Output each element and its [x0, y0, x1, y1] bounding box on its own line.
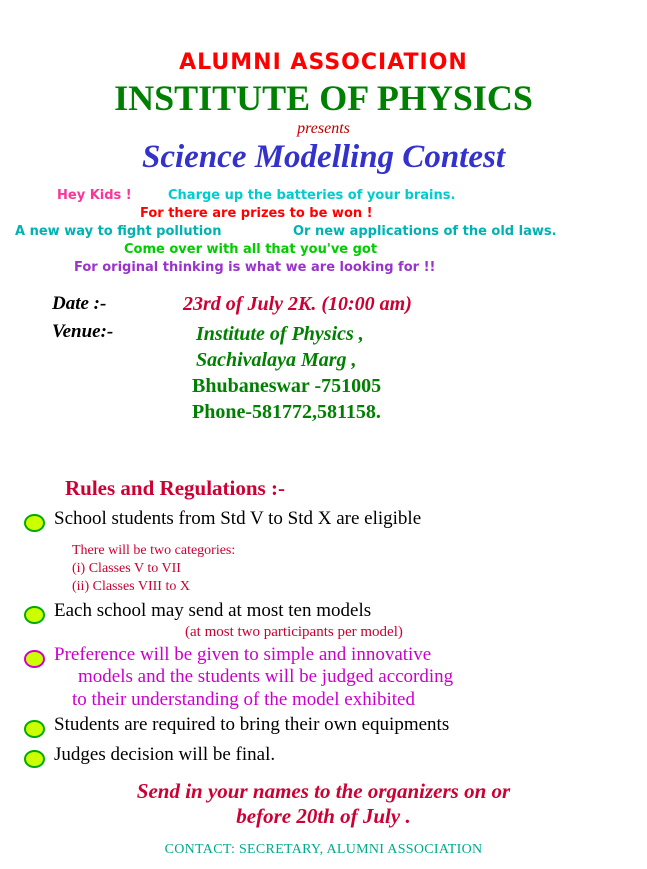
rule-item-5: Judges decision will be final. [24, 744, 624, 768]
rule-text-1: School students from Std V to Std X are … [54, 508, 421, 530]
rule-3-line-3: to their understanding of the model exhi… [72, 689, 415, 711]
slogan-prizes: For there are prizes to be won ! [140, 205, 373, 223]
bullet-icon [24, 750, 45, 768]
venue-line-3: Bhubaneswar -751005 [192, 375, 381, 398]
poster-page: ALUMNI ASSOCIATION INSTITUTE OF PHYSICS … [0, 52, 647, 869]
bullet-icon [24, 720, 45, 738]
category-2: (ii) Classes VIII to X [72, 578, 235, 596]
category-1: (i) Classes V to VII [72, 560, 235, 578]
slogan-row-3: A new way to fight pollution Or new appl… [0, 223, 647, 241]
venue-line-1: Institute of Physics , [196, 323, 364, 346]
slogan-come-over: Come over with all that you've got [124, 241, 377, 259]
slogan-row-5: For original thinking is what we are loo… [0, 259, 647, 277]
slogan-charge-up: Charge up the batteries of your brains. [168, 187, 455, 205]
contest-title: Science Modelling Contest [0, 140, 647, 175]
presents-label: presents [0, 121, 647, 137]
bullet-icon [24, 650, 45, 668]
rules-heading: Rules and Regulations :- [65, 476, 285, 501]
slogan-new-way: A new way to fight pollution [15, 223, 221, 241]
event-details: Date :- Venue:- 23rd of July 2K. (10:00 … [0, 293, 647, 433]
rule-item-2: Each school may send at most ten models [24, 600, 624, 624]
rule-text-4: Students are required to bring their own… [54, 714, 449, 736]
rule-item-3: Preference will be given to simple and i… [24, 644, 624, 711]
send-names-line-2: before 20th of July . [0, 803, 647, 829]
send-names-line-1: Send in your names to the organizers on … [0, 778, 647, 804]
slogan-row-1: Hey Kids ! Charge up the batteries of yo… [0, 187, 647, 205]
slogan-new-applications: Or new applications of the old laws. [293, 223, 557, 241]
slogan-row-4: Come over with all that you've got [0, 241, 647, 259]
rule-item-1: School students from Std V to Std X are … [24, 508, 624, 532]
rule-text-2: Each school may send at most ten models [54, 600, 371, 622]
rule-text-5: Judges decision will be final. [54, 744, 275, 766]
slogan-row-2: For there are prizes to be won ! [0, 205, 647, 223]
bullet-icon [24, 514, 45, 532]
venue-label: Venue:- [52, 321, 113, 343]
venue-phone: Phone-581772,581158. [192, 401, 381, 424]
slogan-hey-kids: Hey Kids ! [57, 187, 132, 205]
alumni-association-heading: ALUMNI ASSOCIATION [0, 52, 647, 74]
bullet-icon [24, 606, 45, 624]
venue-line-2: Sachivalaya Marg , [196, 349, 357, 372]
date-label: Date :- [52, 293, 106, 315]
contact-line: CONTACT: SECRETARY, ALUMNI ASSOCIATION [0, 842, 647, 858]
rule-2-participants-note: (at most two participants per model) [185, 624, 403, 641]
rule-3-line-1: Preference will be given to simple and i… [54, 644, 431, 665]
rule-3-line-2: models and the students will be judged a… [78, 666, 453, 688]
date-value: 23rd of July 2K. (10:00 am) [183, 293, 412, 316]
rule-item-4: Students are required to bring their own… [24, 714, 624, 738]
institute-heading: INSTITUTE OF PHYSICS [0, 80, 647, 116]
slogan-original-thinking: For original thinking is what we are loo… [74, 259, 435, 277]
rule-1-categories: There will be two categories: (i) Classe… [72, 542, 235, 597]
categories-intro: There will be two categories: [72, 542, 235, 560]
slogan-block: Hey Kids ! Charge up the batteries of yo… [0, 187, 647, 277]
rule-text-3: Preference will be given to simple and i… [54, 644, 453, 711]
